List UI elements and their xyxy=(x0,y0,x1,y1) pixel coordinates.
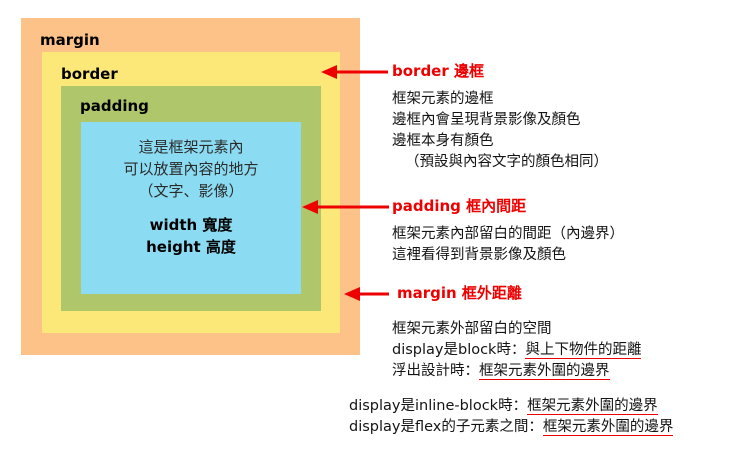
content-dimensions: width 寬度 height 高度 xyxy=(146,214,236,258)
note-line: 邊框本身有顏色 xyxy=(392,131,608,152)
note-rule-underlined: 框架元素外圍的邊界 xyxy=(527,398,658,415)
note-line: 框架元素的邊框 xyxy=(392,89,608,110)
padding-box-label: padding xyxy=(80,99,149,114)
margin-callout-title: margin 框外距離 xyxy=(397,286,522,301)
note-rule-prefix: 浮出設計時： xyxy=(392,363,479,379)
border-callout-arrow-left-icon xyxy=(318,62,390,82)
note-line: 框架元素內部留白的間距（內邊界） xyxy=(392,224,624,245)
note-rule: display是inline-block時：框架元素外圍的邊界 xyxy=(349,396,673,417)
margin-callout-arrow-left-icon xyxy=(341,284,391,304)
border-callout-title: border 邊框 xyxy=(392,64,484,79)
note-line: 邊框內會呈現背景影像及顏色 xyxy=(392,110,608,131)
padding-box: padding 這是框架元素內 可以放置內容的地方 （文字、影像） width … xyxy=(61,86,321,311)
border-box-label: border xyxy=(61,67,118,82)
content-height-label: height 高度 xyxy=(146,236,236,258)
note-line: （預設與內容文字的顏色相同） xyxy=(392,152,608,173)
note-rule: display是block時：與上下物件的距離 xyxy=(392,340,641,361)
border-box: border padding 這是框架元素內 可以放置內容的地方 （文字、影像）… xyxy=(42,52,340,333)
note-rule: display是flex的子元素之間：框架元素外圍的邊界 xyxy=(349,417,673,438)
padding-callout-arrow-left-icon xyxy=(299,197,391,217)
border-callout-notes: 框架元素的邊框 邊框內會呈現背景影像及顏色 邊框本身有顏色 （預設與內容文字的顏… xyxy=(392,89,608,173)
note-rule-prefix: display是flex的子元素之間： xyxy=(349,419,543,435)
margin-box-label: margin xyxy=(40,33,100,48)
note-rule-prefix: display是block時： xyxy=(392,342,525,358)
note-line: 框架元素外部留白的空間 xyxy=(392,319,641,340)
margin-callout-notes: 框架元素外部留白的空間 display是block時：與上下物件的距離 浮出設計… xyxy=(392,319,641,382)
note-line: 這裡看得到背景影像及顏色 xyxy=(392,245,624,266)
margin-display-rules: display是inline-block時：框架元素外圍的邊界 display是… xyxy=(349,396,673,438)
content-text-line: 這是框架元素內 xyxy=(138,136,243,158)
content-width-label: width 寬度 xyxy=(146,214,236,236)
content-text-line: 可以放置內容的地方 xyxy=(123,158,258,180)
content-box: 這是框架元素內 可以放置內容的地方 （文字、影像） width 寬度 heigh… xyxy=(81,122,301,294)
note-rule-underlined: 框架元素外圍的邊界 xyxy=(479,363,610,380)
padding-callout-title: padding 框內間距 xyxy=(392,199,526,214)
note-rule-underlined: 框架元素外圍的邊界 xyxy=(543,419,674,436)
note-rule-underlined: 與上下物件的距離 xyxy=(525,342,641,359)
content-text-line: （文字、影像） xyxy=(138,180,243,202)
box-model-diagram: margin border padding 這是框架元素內 可以放置內容的地方 … xyxy=(21,18,360,355)
padding-callout-notes: 框架元素內部留白的間距（內邊界） 這裡看得到背景影像及顏色 xyxy=(392,224,624,266)
note-rule: 浮出設計時：框架元素外圍的邊界 xyxy=(392,361,641,382)
note-rule-prefix: display是inline-block時： xyxy=(349,398,527,414)
